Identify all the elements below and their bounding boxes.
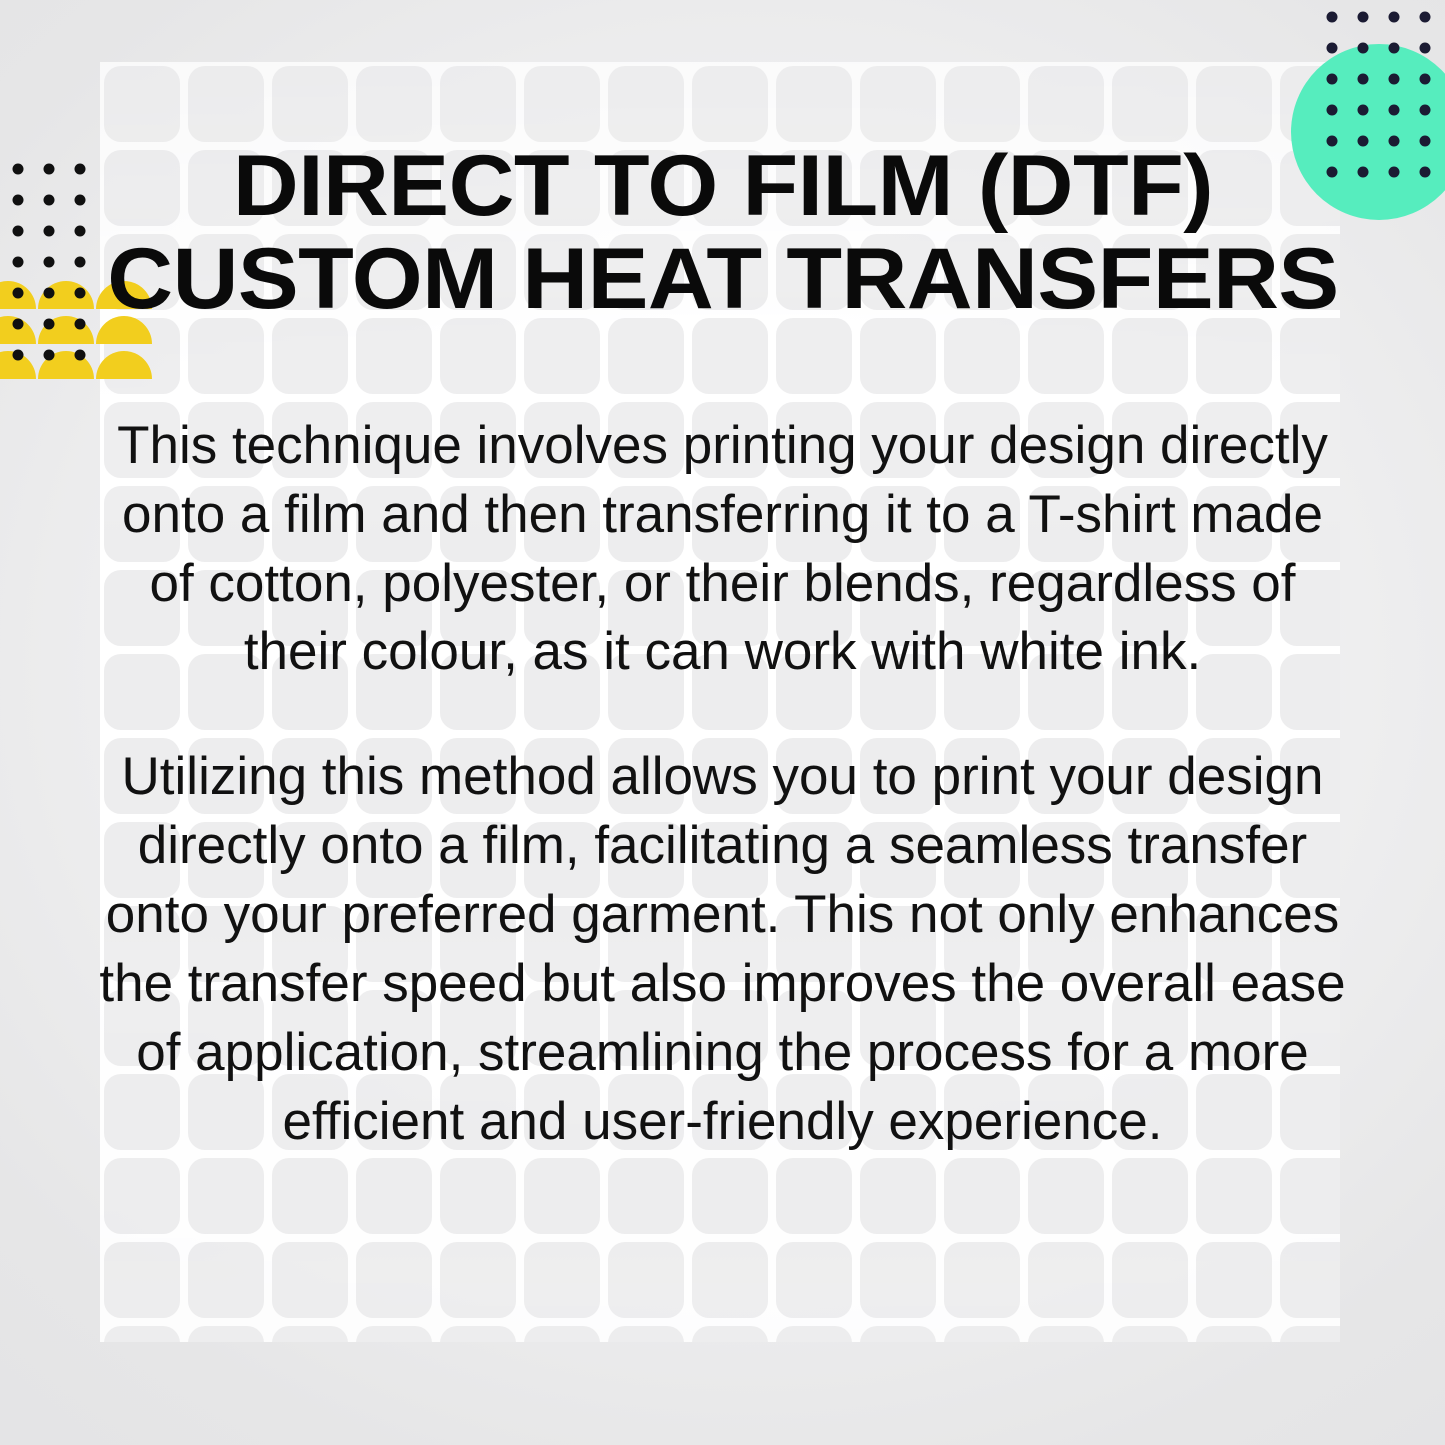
body-copy: This technique involves printing your de… — [95, 412, 1350, 1157]
title-line-1: DIRECT TO FILM (DTF) — [97, 140, 1348, 233]
paragraph-2: Utilizing this method allows you to prin… — [95, 743, 1350, 1156]
title-line-2: CUSTOM HEAT TRANSFERS — [97, 233, 1348, 326]
poster-content: DIRECT TO FILM (DTF) CUSTOM HEAT TRANSFE… — [0, 0, 1445, 1445]
paragraph-1: This technique involves printing your de… — [95, 412, 1350, 688]
poster-canvas: DIRECT TO FILM (DTF) CUSTOM HEAT TRANSFE… — [0, 0, 1445, 1445]
page-title: DIRECT TO FILM (DTF) CUSTOM HEAT TRANSFE… — [97, 140, 1348, 326]
